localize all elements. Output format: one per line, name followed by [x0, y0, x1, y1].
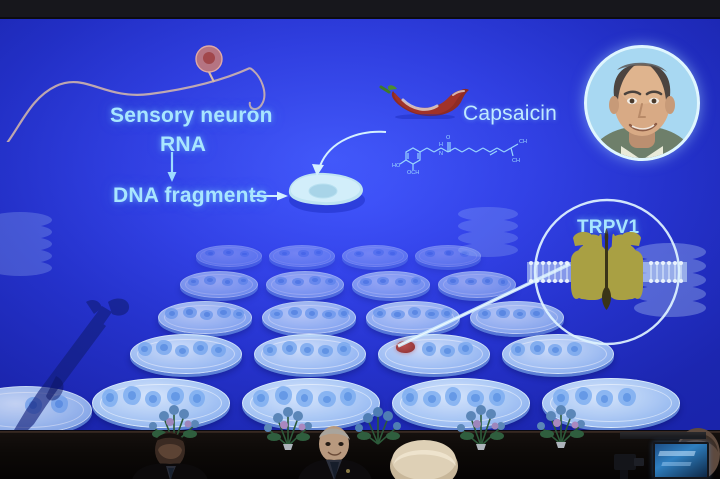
mol-label-ch3-a: CH: [519, 139, 527, 145]
desk-edge: [0, 431, 720, 436]
projection-screen: Sensory neuron RNA DNA fragments: [0, 18, 720, 430]
petri-dish: [254, 334, 364, 372]
screenshot-root: Sensory neuron RNA DNA fragments: [0, 0, 720, 479]
petri-dish: [196, 245, 260, 265]
label-dna-fragments: DNA fragments: [113, 184, 268, 208]
monitor-glint: [662, 462, 692, 466]
mol-label-ch3-b: CH: [512, 158, 520, 164]
label-rna: RNA: [160, 133, 206, 157]
petri-dish-stack: [0, 208, 78, 286]
arrow-capsaicin-to-cell-icon: [300, 128, 390, 180]
petri-dish: [269, 245, 333, 265]
seated-person-center: [288, 424, 384, 479]
petri-dish: [180, 271, 256, 296]
petri-dish: [392, 378, 528, 426]
petri-dish: [542, 378, 678, 426]
camera-rig: [604, 448, 652, 479]
preview-monitor: [653, 442, 709, 479]
monitor-bezel-label: [620, 432, 706, 439]
trpv1-inset: [527, 210, 687, 335]
petri-dish: [158, 301, 250, 332]
mol-label-o: O: [446, 135, 451, 141]
chili-pepper-icon: [369, 73, 477, 119]
screen-top-bezel: [0, 0, 720, 19]
mol-label-h: H: [439, 142, 443, 148]
mol-label-n: N: [439, 151, 443, 157]
pipette-silhouette-icon: [0, 284, 134, 430]
label-capsaicin: Capsaicin: [463, 102, 557, 126]
petri-dish: [130, 334, 240, 372]
mol-label-ho: HO: [392, 163, 401, 169]
petri-dish: [262, 301, 354, 332]
seated-person-left: [118, 428, 228, 479]
stage-desk: [0, 433, 720, 479]
mol-label-och3: OCH: [407, 170, 419, 174]
trpv1-circle-outline: [499, 198, 715, 350]
audience-head-right: [672, 426, 720, 479]
label-sensory-neuron: Sensory neuron: [110, 104, 273, 128]
audience-head-foreground: [378, 438, 474, 479]
capsaicin-molecule-structure: HO OCH O H N CH CH: [392, 126, 552, 174]
petri-dish: [242, 378, 378, 426]
portrait-photo: [584, 45, 700, 161]
monitor-glint: [658, 451, 696, 456]
petri-dish: [266, 271, 342, 296]
